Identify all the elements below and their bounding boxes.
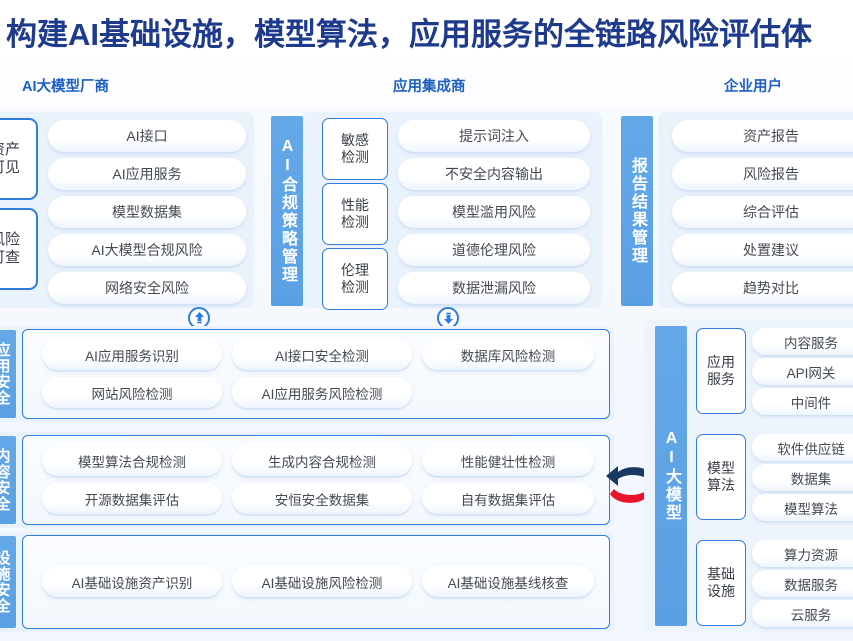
list-item[interactable]: 数据泄漏风险 — [398, 272, 590, 304]
policy-management-band-label: AI合规策略管理 — [279, 138, 295, 284]
capability-item-label: 模型算法合规检测 — [78, 451, 186, 471]
vendor-item-label: AI大模型合规风险 — [91, 240, 202, 260]
list-item[interactable]: 处置建议 — [672, 234, 853, 266]
list-item[interactable]: AI基础设施基线核查 — [422, 566, 594, 597]
arrow-down-icon — [443, 312, 454, 324]
report-item-label: 处置建议 — [743, 240, 799, 260]
report-item-label: 综合评估 — [743, 202, 799, 222]
capability-item-label: AI应用服务识别 — [85, 345, 179, 365]
stack-item-label: API网关 — [787, 362, 836, 382]
stack-group-title-app-service[interactable]: 应用服务 — [696, 328, 746, 414]
list-item[interactable]: 开源数据集评估 — [42, 483, 222, 514]
role-label-integrator: 应用集成商 — [393, 75, 466, 96]
stack-item-label: 中间件 — [791, 392, 832, 412]
report-item-label: 风险报告 — [743, 164, 799, 184]
list-item[interactable]: AI应用服务识别 — [42, 339, 222, 370]
capability-item-label: AI应用服务风险检测 — [262, 383, 383, 403]
capability-band-label: 内容安全 — [0, 448, 10, 512]
list-item[interactable]: 模型数据集 — [48, 196, 246, 228]
list-item[interactable]: AI应用服务风险检测 — [232, 377, 412, 408]
stack-band-label: AI大模型 — [663, 430, 679, 522]
list-item[interactable]: 模型算法合规检测 — [42, 445, 222, 476]
list-item[interactable]: 模型算法 — [752, 494, 853, 521]
list-item[interactable]: 自有数据集评估 — [422, 483, 594, 514]
capability-item-label: 开源数据集评估 — [85, 489, 180, 509]
list-item[interactable]: 资产报告 — [672, 120, 853, 152]
capability-band-content-security[interactable]: 内容安全 — [0, 436, 16, 524]
list-item[interactable]: 数据服务 — [752, 570, 853, 597]
page-title-bar: 构建AI基础设施，模型算法，应用服务的全链路风险评估体 — [0, 0, 853, 62]
list-item[interactable]: 生成内容合规检测 — [232, 445, 412, 476]
list-item[interactable]: 算力资源 — [752, 540, 853, 567]
capability-item-label: 安恒安全数据集 — [275, 489, 370, 509]
vendor-item-label: 网络安全风险 — [105, 278, 189, 298]
risk-item-label: 提示词注入 — [459, 126, 529, 146]
list-item[interactable]: 综合评估 — [672, 196, 853, 228]
capability-band-label: 设施安全 — [0, 550, 10, 614]
detection-category-label: 敏感检测 — [340, 132, 370, 167]
outcome-box-risk-traceable-label: 风险可查 — [0, 231, 22, 268]
list-item[interactable]: 网络安全风险 — [48, 272, 246, 304]
list-item[interactable]: 模型滥用风险 — [398, 196, 590, 228]
list-item[interactable]: 趋势对比 — [672, 272, 853, 304]
report-management-band-label: 报告结果管理 — [629, 157, 645, 265]
policy-management-band[interactable]: AI合规策略管理 — [271, 116, 303, 306]
capability-item-label: 生成内容合规检测 — [268, 451, 376, 471]
stack-group-title-label: 模型算法 — [706, 460, 736, 495]
list-item[interactable]: 性能健壮性检测 — [422, 445, 594, 476]
vendor-item-label: AI应用服务 — [112, 164, 181, 184]
report-item-label: 资产报告 — [743, 126, 799, 146]
stack-group-title-label: 应用服务 — [706, 354, 736, 389]
detection-category-ethics[interactable]: 伦理检测 — [322, 248, 388, 310]
risk-item-label: 数据泄漏风险 — [452, 278, 536, 298]
detection-category-label: 伦理检测 — [340, 262, 370, 297]
list-item[interactable]: AI大模型合规风险 — [48, 234, 246, 266]
capability-item-label: 网站风险检测 — [92, 383, 173, 403]
stack-group-title-label: 基础设施 — [706, 566, 736, 601]
list-item[interactable]: 安恒安全数据集 — [232, 483, 412, 514]
capability-band-label: 应用安全 — [0, 342, 10, 406]
list-item[interactable]: 不安全内容输出 — [398, 158, 590, 190]
list-item[interactable]: 网站风险检测 — [42, 377, 222, 408]
stack-item-label: 云服务 — [791, 604, 832, 624]
capability-band-app-security[interactable]: 应用安全 — [0, 330, 16, 418]
stack-band-ai-model[interactable]: AI大模型 — [655, 326, 687, 626]
stack-item-label: 算力资源 — [784, 544, 838, 564]
capability-item-label: AI基础设施基线核查 — [448, 572, 569, 592]
detection-category-label: 性能检测 — [340, 197, 370, 232]
vendor-item-label: AI接口 — [126, 126, 167, 146]
stack-item-label: 数据服务 — [784, 574, 838, 594]
list-item[interactable]: 提示词注入 — [398, 120, 590, 152]
capability-band-infra-security[interactable]: 设施安全 — [0, 536, 16, 628]
detection-category-sensitive[interactable]: 敏感检测 — [322, 118, 388, 180]
arrow-up-icon — [194, 312, 205, 324]
risk-item-label: 不安全内容输出 — [445, 164, 543, 184]
list-item[interactable]: AI基础设施风险检测 — [232, 566, 412, 597]
list-item[interactable]: AI接口安全检测 — [232, 339, 412, 370]
outcome-box-asset-visible-label: 资产可见 — [0, 141, 22, 178]
detection-category-performance[interactable]: 性能检测 — [322, 183, 388, 245]
capability-item-label: AI基础设施风险检测 — [262, 572, 383, 592]
report-management-band[interactable]: 报告结果管理 — [621, 116, 653, 306]
risk-item-label: 道德伦理风险 — [452, 240, 536, 260]
role-label-vendor: AI大模型厂商 — [22, 75, 109, 96]
capability-item-label: AI基础设施资产识别 — [72, 572, 193, 592]
report-item-label: 趋势对比 — [743, 278, 799, 298]
list-item[interactable]: 软件供应链 — [752, 434, 853, 461]
list-item[interactable]: AI应用服务 — [48, 158, 246, 190]
diagram-canvas: 资产可见 风险可查 AI接口 AI应用服务 模型数据集 AI大模型合规风险 网络… — [0, 108, 853, 641]
role-header-strip: AI大模型厂商 应用集成商 企业用户 — [0, 62, 853, 109]
stack-item-label: 模型算法 — [784, 498, 838, 518]
vendor-item-label: 模型数据集 — [112, 202, 182, 222]
list-item[interactable]: API网关 — [752, 358, 853, 385]
outcome-box-risk-traceable[interactable]: 风险可查 — [0, 208, 38, 290]
list-item[interactable]: AI基础设施资产识别 — [42, 566, 222, 597]
capability-item-label: 自有数据集评估 — [461, 489, 556, 509]
list-item[interactable]: 数据库风险检测 — [422, 339, 594, 370]
stack-group-title-infrastructure[interactable]: 基础设施 — [696, 540, 746, 626]
risk-item-label: 模型滥用风险 — [452, 202, 536, 222]
capability-item-label: 性能健壮性检测 — [461, 451, 556, 471]
list-item[interactable]: 数据集 — [752, 464, 853, 491]
capability-item-label: AI接口安全检测 — [275, 345, 369, 365]
list-item[interactable]: 道德伦理风险 — [398, 234, 590, 266]
role-label-enterprise: 企业用户 — [724, 75, 782, 96]
list-item[interactable]: 内容服务 — [752, 328, 853, 355]
stack-item-label: 软件供应链 — [777, 438, 845, 458]
stack-item-label: 数据集 — [791, 468, 832, 488]
stack-group-title-model-algorithm[interactable]: 模型算法 — [696, 434, 746, 520]
page-title: 构建AI基础设施，模型算法，应用服务的全链路风险评估体 — [6, 9, 812, 54]
capability-item-label: 数据库风险检测 — [461, 345, 556, 365]
list-item[interactable]: AI接口 — [48, 120, 246, 152]
outcome-box-asset-visible[interactable]: 资产可见 — [0, 118, 38, 200]
list-item[interactable]: 中间件 — [752, 388, 853, 415]
list-item[interactable]: 云服务 — [752, 600, 853, 627]
list-item[interactable]: 风险报告 — [672, 158, 853, 190]
stack-item-label: 内容服务 — [784, 332, 838, 352]
